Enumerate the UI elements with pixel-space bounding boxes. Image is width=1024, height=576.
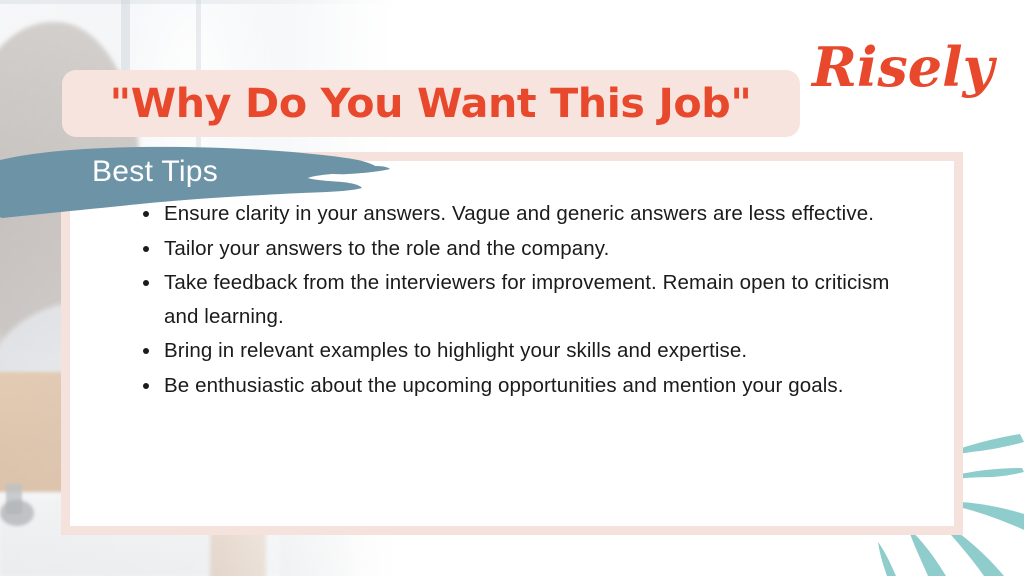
title-banner: "Why Do You Want This Job" [62, 70, 800, 137]
tips-list: Ensure clarity in your answers. Vague an… [134, 197, 914, 402]
risely-logo: Risely [808, 28, 998, 106]
list-item: Take feedback from the interviewers for … [134, 266, 914, 333]
risely-logo-svg: Risely [808, 28, 998, 106]
list-item: Bring in relevant examples to highlight … [134, 334, 914, 368]
page-title: "Why Do You Want This Job" [110, 81, 752, 127]
list-item: Tailor your answers to the role and the … [134, 232, 914, 266]
subtitle-text: Best Tips [92, 155, 218, 189]
risely-logo-text: Risely [810, 35, 998, 99]
list-item: Be enthusiastic about the upcoming oppor… [134, 369, 914, 403]
